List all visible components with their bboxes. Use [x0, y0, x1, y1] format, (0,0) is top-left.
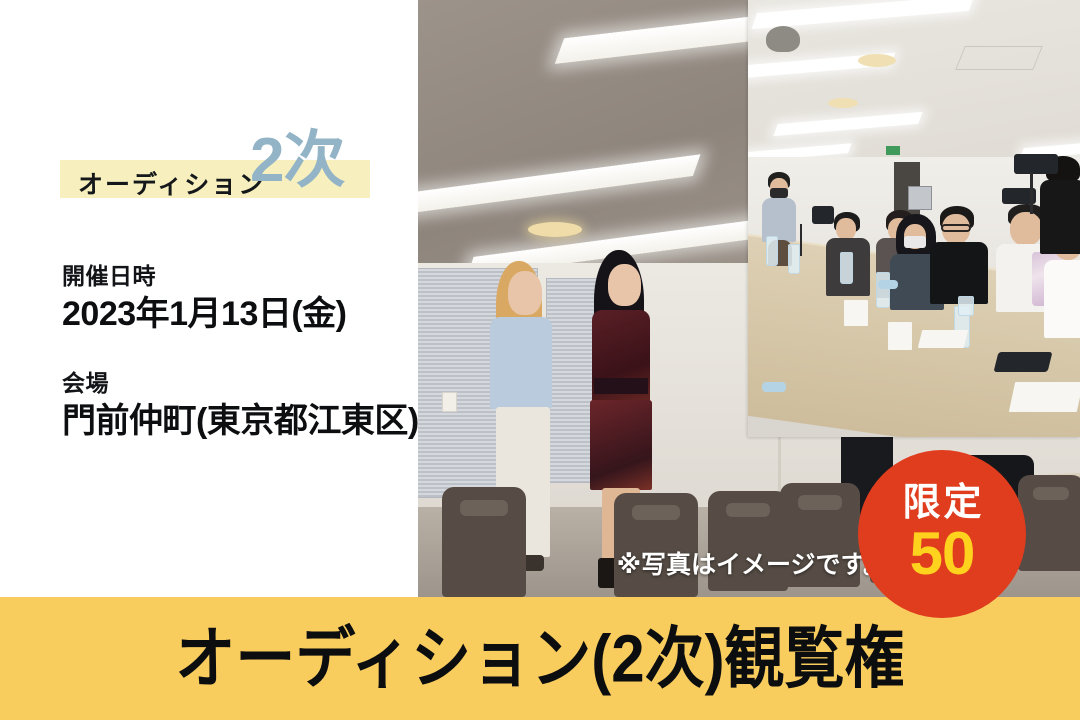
inset-ceiling-dome: [766, 26, 800, 52]
torso: [1040, 180, 1080, 254]
name-card: [844, 300, 868, 326]
sticky-note: [762, 382, 786, 392]
water-bottle: [840, 252, 853, 284]
inset-wall-picture: [908, 186, 932, 210]
stacked-chair: [442, 487, 526, 597]
venue-label: 会場: [62, 369, 412, 398]
downlight: [528, 222, 582, 237]
head: [836, 218, 856, 240]
date-label: 開催日時: [62, 262, 412, 291]
badge-round-number: 2次: [250, 130, 344, 192]
audition-round-badge: オーディション 2次: [60, 152, 370, 196]
face-mask: [770, 188, 788, 198]
water-bottle: [766, 236, 778, 266]
head: [608, 264, 641, 306]
left-info-panel: オーディション 2次 開催日時 2023年1月13日(金) 会場 門前仲町(東京…: [0, 0, 418, 597]
skirt: [590, 400, 652, 490]
wall-outlet: [442, 392, 457, 412]
bottom-title-banner: オーディション(2次)観覧権: [0, 597, 1080, 720]
venue-value: 門前仲町(東京都江東区): [62, 400, 412, 443]
tripod-camera-left: [812, 206, 834, 224]
head: [508, 271, 542, 315]
inset-judge-4: [930, 206, 990, 306]
date-value: 2023年1月13日(金): [62, 293, 412, 336]
water-bottle: [876, 272, 890, 308]
inset-ceiling-vent: [955, 46, 1043, 70]
audition-flyer: ※写真はイメージです。: [0, 0, 1080, 720]
limited-quantity-badge: 限定 50: [858, 450, 1026, 618]
name-card: [888, 322, 912, 350]
face-mask: [904, 236, 926, 248]
inset-exit-sign: [886, 146, 900, 155]
document-sheet: [918, 330, 968, 348]
limited-number: 50: [910, 524, 975, 584]
document-sheet: [1009, 382, 1080, 412]
mic-stand: [800, 224, 802, 256]
smartphone: [994, 352, 1053, 372]
event-info-block: 開催日時 2023年1月13日(金) 会場 門前仲町(東京都江東区): [62, 262, 412, 443]
water-bottle: [958, 296, 974, 316]
torso-top: [490, 317, 552, 409]
torso-dress: [592, 310, 650, 410]
banner-title-text: オーディション(2次)観覧権: [175, 625, 904, 692]
torso: [930, 242, 988, 304]
video-camera: [1014, 154, 1058, 174]
inset-downlight: [858, 54, 896, 67]
limited-label: 限定: [899, 484, 984, 522]
belt: [594, 378, 648, 394]
eyeglasses: [941, 224, 971, 232]
inset-photo-judges-panel: [748, 0, 1080, 437]
spacer: [62, 335, 412, 369]
sticky-note: [878, 280, 898, 289]
photo-disclaimer-note: ※写真はイメージです。: [617, 545, 888, 581]
badge-audition-label: オーディション: [78, 165, 265, 201]
torso-white-shirt: [1044, 260, 1080, 338]
stacked-chair: [1018, 475, 1080, 571]
water-bottle: [788, 244, 800, 274]
camera-tripod: [1030, 172, 1033, 214]
inset-downlight: [828, 98, 858, 108]
